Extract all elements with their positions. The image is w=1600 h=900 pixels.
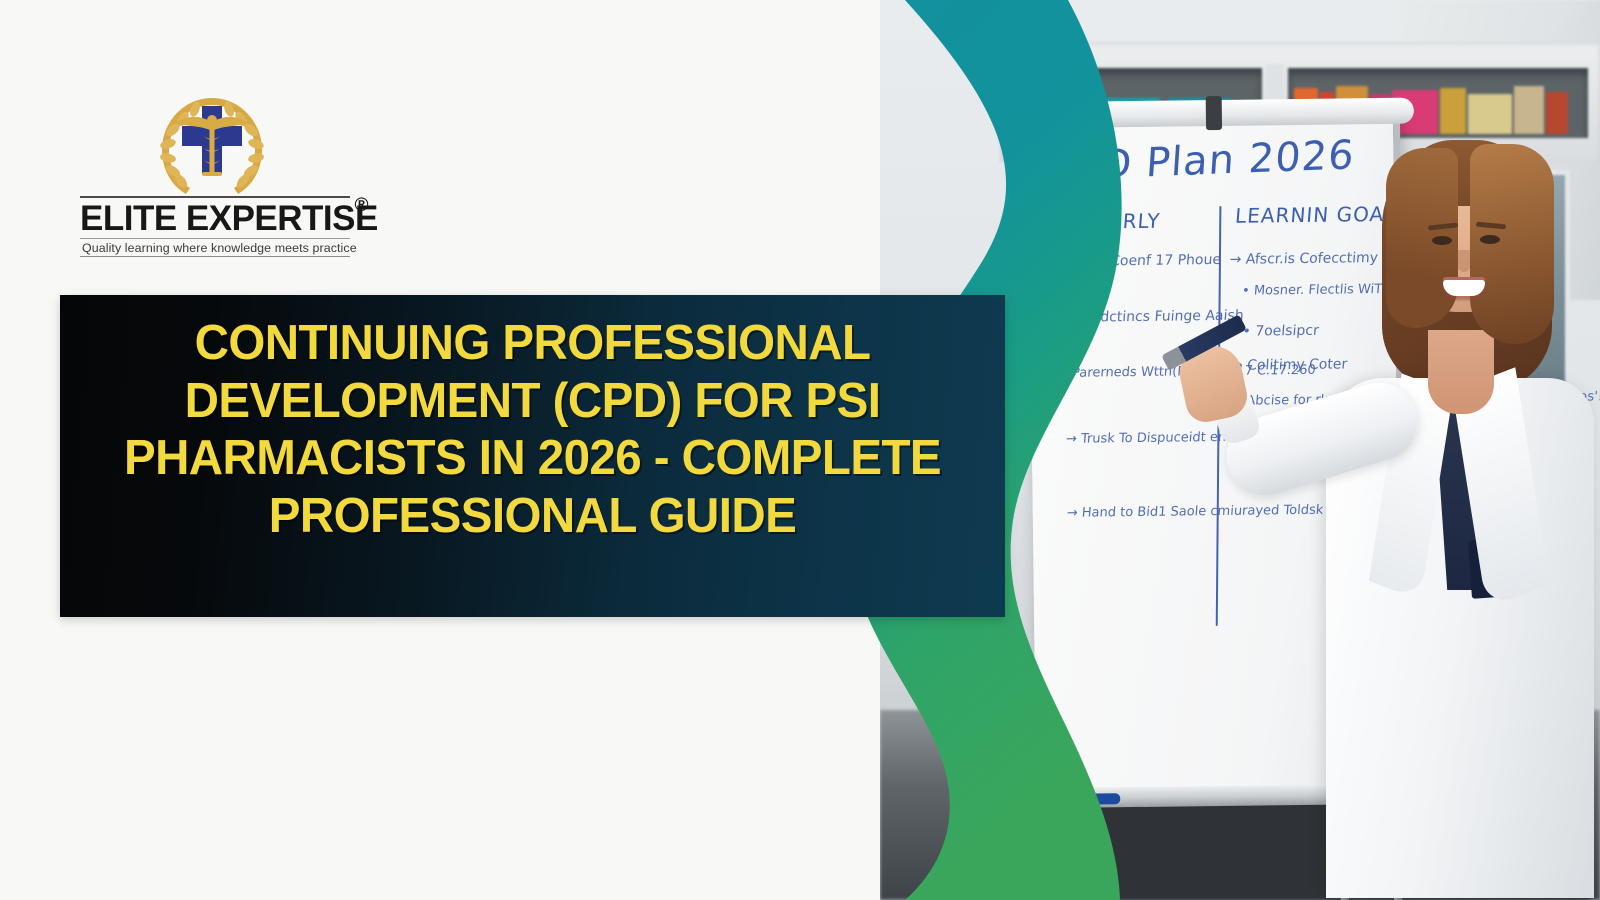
registered-trademark-icon: ® xyxy=(355,196,369,217)
title-banner: Continuing Professional Development (CPD… xyxy=(60,295,1005,617)
logo-tagline: Quality learning where knowledge meets p… xyxy=(80,238,350,256)
banner-graphic: CPD Plan 2026 YEARLY → 2uily Coenf 17 Ph… xyxy=(0,0,1600,900)
logo: ELITE EXPERTISE ® Quality learning where… xyxy=(80,92,350,252)
logo-wordmark: ELITE EXPERTISE ® Quality learning where… xyxy=(80,196,350,257)
caduceus-emblem-icon xyxy=(152,92,272,202)
logo-name-text: ELITE EXPERTISE xyxy=(80,199,378,238)
page-title: Continuing Professional Development (CPD… xyxy=(74,315,991,545)
